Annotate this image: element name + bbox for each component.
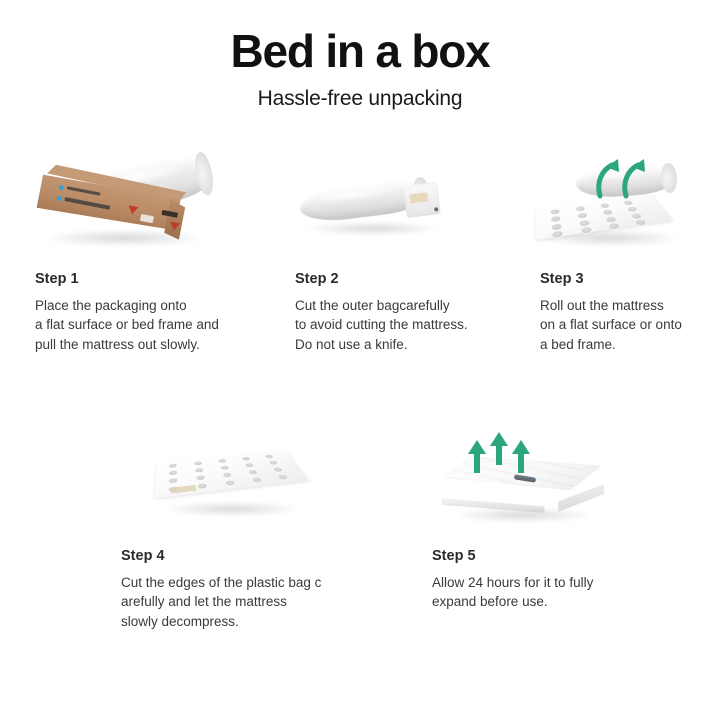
box-brand-print bbox=[64, 197, 110, 210]
step-3-description: Roll out the mattress on a flat surface … bbox=[540, 296, 720, 355]
page-subtitle: Hassle-free unpacking bbox=[0, 88, 720, 109]
step-5-label: Step 5 bbox=[432, 549, 682, 564]
expand-arrow-icon bbox=[468, 440, 486, 474]
bag-label bbox=[409, 192, 428, 203]
drop-shadow bbox=[305, 222, 441, 235]
unroll-arrow-icon bbox=[620, 156, 650, 198]
box-brand-print bbox=[67, 186, 101, 195]
step-1-text-block: Step 1 Place the packaging onto a flat s… bbox=[35, 272, 275, 354]
bed-in-a-box-infographic: Bed in a box Hassle-free unpacking bbox=[0, 0, 720, 720]
expand-arrow-icon bbox=[512, 440, 530, 474]
header: Bed in a box Hassle-free unpacking bbox=[0, 28, 720, 109]
step-1-illustration bbox=[30, 150, 220, 250]
roll-highlight bbox=[308, 184, 407, 203]
page-title: Bed in a box bbox=[0, 28, 720, 74]
box-logo-dot bbox=[58, 185, 64, 191]
step-2-label: Step 2 bbox=[295, 272, 535, 287]
step-2-illustration bbox=[293, 178, 453, 240]
step-5-description: Allow 24 hours for it to fully expand be… bbox=[432, 573, 682, 612]
step-4-text-block: Step 4 Cut the edges of the plastic bag … bbox=[121, 549, 371, 631]
step-3-illustration bbox=[528, 152, 693, 252]
box-label-chip bbox=[140, 214, 154, 223]
drop-shadow bbox=[164, 502, 300, 516]
flat-mattress-pad bbox=[155, 451, 309, 499]
step-1-label: Step 1 bbox=[35, 272, 275, 287]
step-4-label: Step 4 bbox=[121, 549, 371, 564]
bag-sealed-end bbox=[403, 182, 441, 218]
bag-seal-dot bbox=[434, 207, 438, 211]
step-4-description: Cut the edges of the plastic bag c arefu… bbox=[121, 573, 371, 632]
box-warning-icon bbox=[127, 205, 138, 215]
step-1-description: Place the packaging onto a flat surface … bbox=[35, 296, 275, 355]
step-3-text-block: Step 3 Roll out the mattress on a flat s… bbox=[540, 272, 720, 354]
expand-arrow-icon bbox=[490, 432, 508, 466]
step-2-description: Cut the outer bagcarefully to avoid cutt… bbox=[295, 296, 535, 355]
mattress-front-edge bbox=[442, 498, 570, 513]
step-3-label: Step 3 bbox=[540, 272, 720, 287]
step-4-illustration bbox=[152, 436, 312, 522]
step-5-text-block: Step 5 Allow 24 hours for it to fully ex… bbox=[432, 549, 682, 612]
box-logo-dot bbox=[56, 196, 62, 202]
box-warning-icon bbox=[169, 222, 180, 232]
step-2-text-block: Step 2 Cut the outer bagcarefully to avo… bbox=[295, 272, 535, 354]
step-5-illustration bbox=[440, 428, 610, 524]
